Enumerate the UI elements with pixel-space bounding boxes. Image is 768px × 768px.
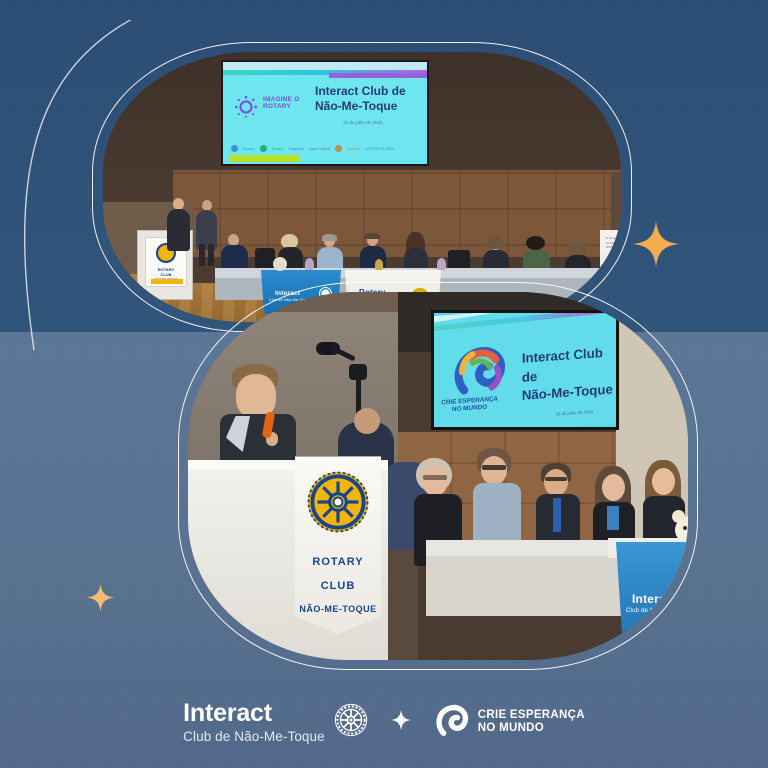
interact-logo: Interact Club de Não-Me-Toque xyxy=(183,701,368,744)
cloth-interact: Interact Club de Não-Me-Toque xyxy=(616,542,688,660)
poster-canvas: IMAGINE O ROTARY Interact Club de Não-Me… xyxy=(0,0,768,768)
four-point-star-icon xyxy=(390,709,412,736)
screen-sponsor-strip: Rotary Rotary Rotaract Inner Cuncil Inte… xyxy=(231,144,423,152)
screen-logo-line1: IMAGINE O xyxy=(263,96,299,103)
screen-date: 16 de julho de 2022 xyxy=(343,120,383,125)
screen-logo-line2: NO MUNDO xyxy=(452,404,487,413)
audience-member-head xyxy=(354,408,380,434)
screen-title-line2: Não-Me-Toque xyxy=(315,99,406,114)
table-decoration xyxy=(437,258,446,270)
screen-title-line1: Interact Club de xyxy=(315,84,406,99)
photo-bottom: CRIE ESPERANÇA NO MUNDO Interact Club de… xyxy=(188,292,688,660)
banner-line2: Club de Não-Me-Toque xyxy=(616,262,621,266)
projection-screen-bottom: CRIE ESPERANÇA NO MUNDO Interact Club de… xyxy=(431,310,619,430)
auditorium-scene-top: IMAGINE O ROTARY Interact Club de Não-Me… xyxy=(103,52,621,322)
glasses xyxy=(482,465,506,470)
glasses xyxy=(545,477,567,481)
crie-esperanca-logo: CRIE ESPERANÇA NO MUNDO xyxy=(434,703,585,742)
auditorium-scene-bottom: CRIE ESPERANÇA NO MUNDO Interact Club de… xyxy=(188,292,688,660)
pennant-line1: ROTARY xyxy=(295,556,381,568)
rotary-wheel-icon xyxy=(334,703,368,742)
crie-esperanca-swirl-icon xyxy=(434,703,470,742)
projection-screen-top: IMAGINE O ROTARY Interact Club de Não-Me… xyxy=(221,60,429,166)
screen-ribbon-2 xyxy=(329,73,427,78)
crie-line2: NO MUNDO xyxy=(478,722,585,735)
table-decoration xyxy=(375,259,383,270)
interact-subtitle: Club de Não-Me-Toque xyxy=(183,730,325,744)
imagine-rotary-icon xyxy=(233,94,259,120)
rotary-wheel-icon xyxy=(306,470,370,534)
cloth-interact-line1: Interact xyxy=(632,592,677,606)
pennant-line3: NÃO-ME-TOQUE xyxy=(295,604,381,614)
screen-ribbon xyxy=(431,310,619,334)
screen-date: 16 de julho de 2022 xyxy=(556,409,593,417)
screen-footer-bar xyxy=(229,155,299,162)
lanyard xyxy=(607,506,619,530)
interact-title: Interact xyxy=(183,701,272,726)
pennant-line2: CLUB xyxy=(295,580,381,592)
table-decoration xyxy=(305,258,314,270)
crie-line1: CRIE ESPERANÇA xyxy=(478,709,585,722)
crie-esperanca-swirl-icon xyxy=(450,342,511,397)
teddy-bear xyxy=(273,257,287,271)
glasses xyxy=(423,475,447,480)
footer-branding: Interact Club de Não-Me-Toque xyxy=(0,676,768,768)
necktie xyxy=(553,498,561,532)
screen-logo-line2: ROTARY xyxy=(263,103,299,110)
photo-top: IMAGINE O ROTARY Interact Club de Não-Me… xyxy=(103,52,621,322)
rotary-pennant: ROTARY CLUB NÃO-ME-TOQUE xyxy=(295,456,381,634)
cloth-interact-line2: Club de Não-Me-Toque xyxy=(626,608,688,614)
